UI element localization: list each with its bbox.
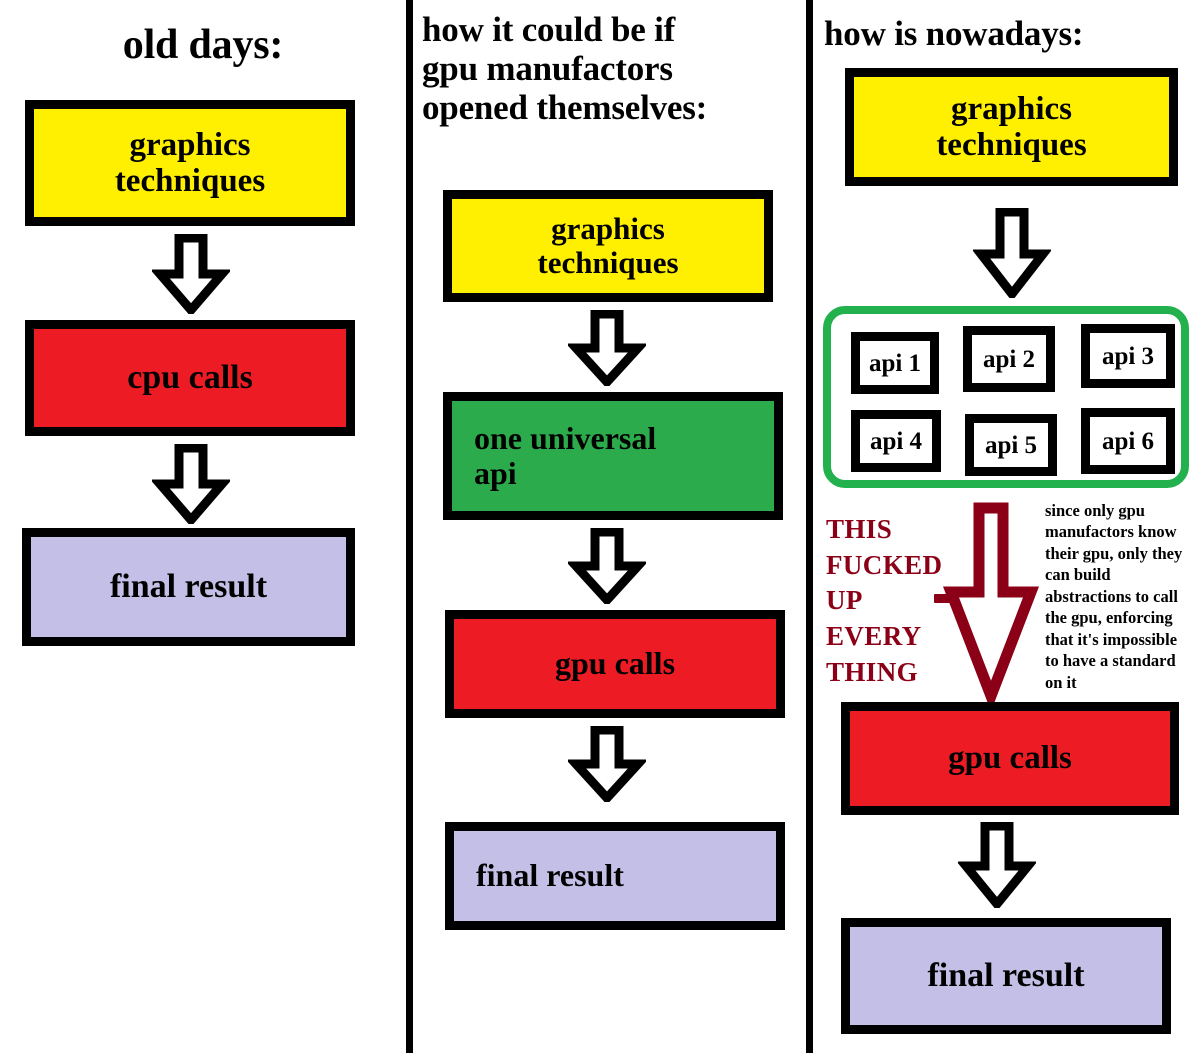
- node-final-result: final result: [841, 918, 1171, 1034]
- callout-note-text: since only gpu manufactors know their gp…: [1045, 500, 1200, 693]
- node-label: cpu calls: [34, 359, 346, 396]
- node-label: final result: [850, 957, 1162, 994]
- down-arrow-icon: [973, 208, 1051, 298]
- column-title-old-days: old days:: [0, 22, 406, 69]
- down-arrow-icon: [568, 310, 646, 386]
- node-gpu-calls: gpu calls: [445, 610, 785, 718]
- api-box-6[interactable]: api 6: [1081, 408, 1175, 474]
- column-divider: [406, 0, 413, 1053]
- node-label: one universal api: [452, 421, 774, 491]
- column-old-days: old days: graphics techniques cpu calls …: [0, 0, 406, 1053]
- api-box-4[interactable]: api 4: [851, 410, 941, 472]
- down-arrow-icon: [152, 234, 230, 314]
- red-down-arrow-icon: [941, 500, 1041, 704]
- api-group-container: api 1 api 2 api 3 api 4 api 5 api 6: [823, 306, 1189, 488]
- node-graphics-techniques: graphics techniques: [845, 68, 1178, 186]
- node-label: final result: [31, 568, 346, 605]
- node-final-result: final result: [22, 528, 355, 646]
- api-box-2[interactable]: api 2: [963, 326, 1055, 392]
- node-label: final result: [454, 858, 776, 893]
- api-box-label: api 4: [870, 429, 922, 454]
- down-arrow-icon: [152, 444, 230, 524]
- node-final-result: final result: [445, 822, 785, 930]
- meme-canvas: old days: graphics techniques cpu calls …: [0, 0, 1200, 1053]
- column-title-nowadays: how is nowadays:: [824, 14, 1200, 53]
- column-divider: [806, 0, 813, 1053]
- down-arrow-icon: [568, 528, 646, 604]
- node-label: graphics techniques: [854, 91, 1169, 164]
- node-label: graphics techniques: [34, 127, 346, 200]
- node-label: gpu calls: [850, 740, 1170, 776]
- node-one-universal-api: one universal api: [443, 392, 783, 520]
- node-graphics-techniques: graphics techniques: [443, 190, 773, 302]
- column-nowadays: how is nowadays: graphics techniques api…: [813, 0, 1200, 1053]
- api-box-3[interactable]: api 3: [1081, 324, 1175, 388]
- node-label: graphics techniques: [452, 212, 764, 280]
- api-box-1[interactable]: api 1: [851, 332, 939, 394]
- api-box-label: api 3: [1102, 344, 1154, 369]
- node-label: gpu calls: [454, 646, 776, 681]
- api-box-label: api 6: [1102, 429, 1154, 454]
- api-box-label: api 2: [983, 347, 1035, 372]
- node-graphics-techniques: graphics techniques: [25, 100, 355, 226]
- node-gpu-calls: gpu calls: [841, 702, 1179, 815]
- api-box-5[interactable]: api 5: [965, 414, 1057, 476]
- down-arrow-icon: [568, 726, 646, 802]
- column-could-be: how it could be if gpu manufactors opene…: [413, 0, 806, 1053]
- column-title-could-be: how it could be if gpu manufactors opene…: [422, 10, 802, 128]
- down-arrow-icon: [958, 822, 1036, 908]
- api-box-label: api 1: [869, 351, 921, 376]
- node-cpu-calls: cpu calls: [25, 320, 355, 436]
- api-box-label: api 5: [985, 433, 1037, 458]
